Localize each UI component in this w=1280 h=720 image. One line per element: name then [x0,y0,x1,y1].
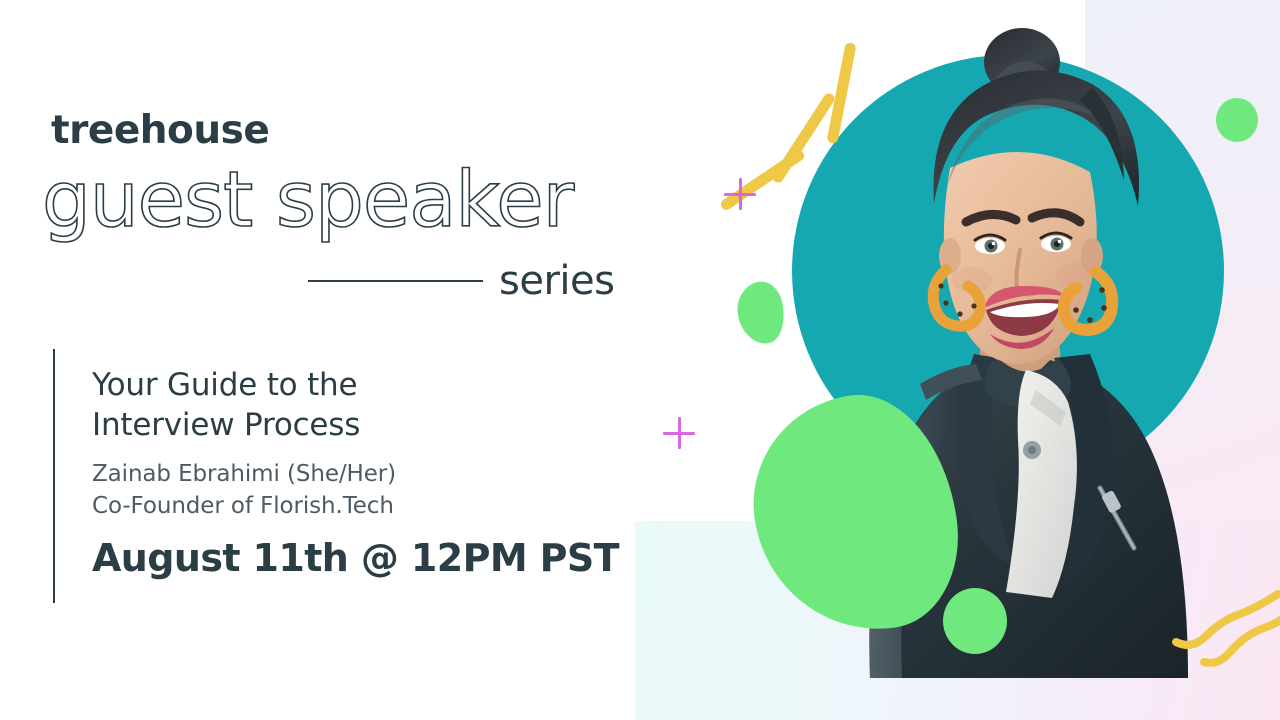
session-datetime: August 11th @ 12PM PST [92,536,632,580]
session-title: Your Guide to the Interview Process [92,366,632,445]
series-label: series [499,258,614,304]
page-title: guest speaker [42,162,573,239]
series-row: series [308,258,628,304]
session-details: Your Guide to the Interview Process Zain… [92,366,632,580]
magenta-plus-icon-upper [724,178,756,210]
series-divider-rule [308,280,483,282]
magenta-plus-icon-lower [663,417,695,449]
speaker-role: Co-Founder of Florish.Tech [92,491,632,522]
session-title-line-2: Interview Process [92,407,360,443]
speaker-name: Zainab Ebrahimi (She/Her) [92,459,632,490]
yellow-squiggle-icon [1168,572,1280,680]
green-dot-bottom-icon [943,588,1007,654]
details-accent-bar [53,349,55,603]
text-content-area: treehouse guest speaker series Your Guid… [0,0,660,720]
speaker-info: Zainab Ebrahimi (She/Her) Co-Founder of … [92,459,632,522]
brand-name: treehouse [51,108,269,153]
session-title-line-1: Your Guide to the [92,367,357,403]
guest-speaker-promo-slide: treehouse guest speaker series Your Guid… [0,0,1280,720]
